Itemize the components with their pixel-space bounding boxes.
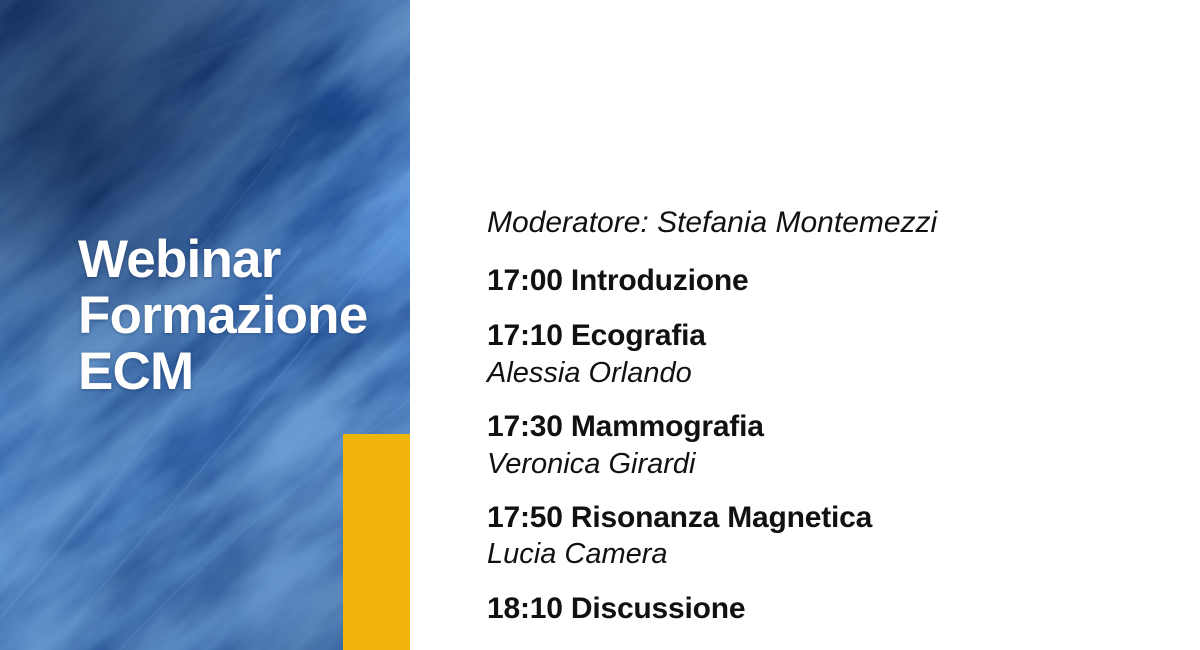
headline: PROTESI — [487, 0, 822, 2]
agenda-item: 17:10 Ecografia Alessia Orlando — [487, 317, 1187, 391]
date-band: LE 17:00 — [343, 434, 410, 650]
agenda-item-speaker: Alessia Orlando — [487, 356, 1187, 391]
page-title: Webinar Formazione ECM — [78, 232, 398, 401]
agenda-item: 18:10 Discussione — [487, 590, 1187, 628]
right-content-panel: PROTESI Moderatore: Stefania Montemezzi … — [410, 0, 1200, 650]
moderator-line: Moderatore: Stefania Montemezzi — [487, 205, 937, 241]
agenda-item-speaker: Veronica Girardi — [487, 447, 1187, 482]
poster-canvas: Webinar Formazione ECM LE 17:00 PROTESI … — [0, 0, 1200, 650]
agenda-item-title: 17:50 Risonanza Magnetica — [487, 499, 1187, 537]
agenda-item: 17:50 Risonanza Magnetica Lucia Camera — [487, 499, 1187, 573]
agenda-item-title: 17:30 Mammografia — [487, 408, 1187, 446]
agenda-item: 17:30 Mammografia Veronica Girardi — [487, 408, 1187, 482]
agenda-item-title: 18:10 Discussione — [487, 590, 1187, 628]
agenda-item: 17:00 Introduzione — [487, 262, 1187, 300]
agenda-item-title: 17:00 Introduzione — [487, 262, 1187, 300]
agenda-list: 17:00 Introduzione 17:10 Ecografia Aless… — [487, 262, 1187, 628]
agenda-item-speaker: Lucia Camera — [487, 537, 1187, 572]
agenda-item-title: 17:10 Ecografia — [487, 317, 1187, 355]
